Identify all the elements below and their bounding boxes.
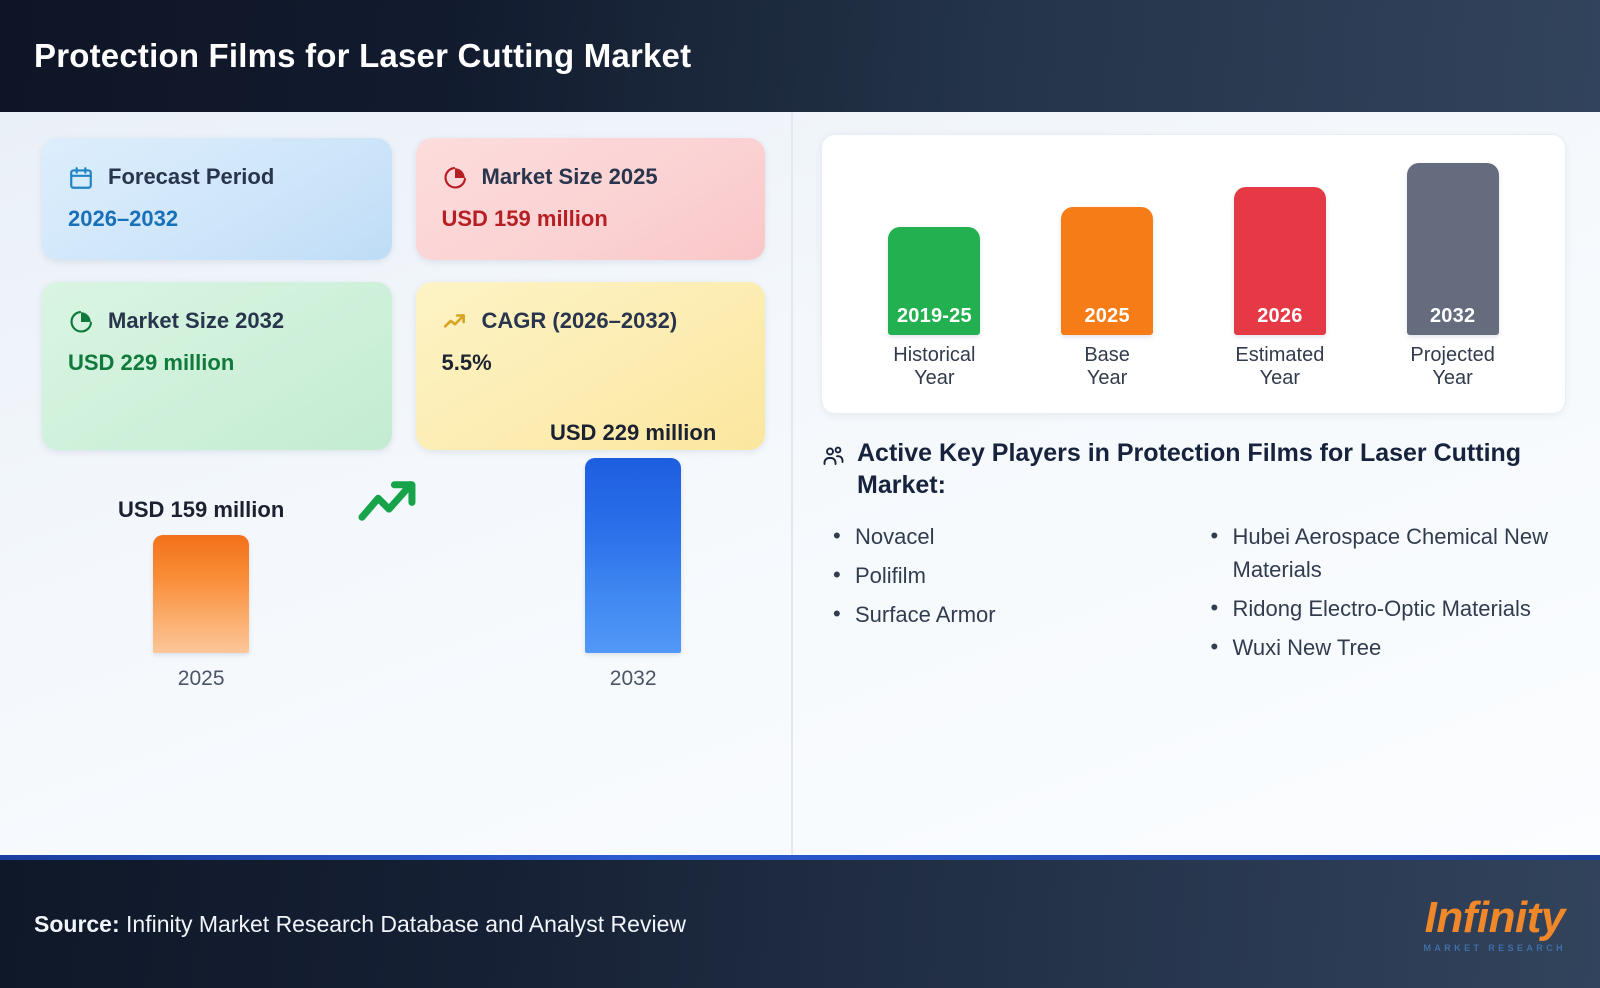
infographic-root: Protection Films for Laser Cutting Marke…	[0, 0, 1600, 988]
card-title: CAGR (2026–2032)	[482, 308, 678, 335]
footer-bar: Source: Infinity Market Research Databas…	[0, 860, 1600, 988]
list-item: Polifilm	[821, 559, 1189, 592]
source-text: Source: Infinity Market Research Databas…	[34, 911, 686, 938]
year-caption-line2: Year	[893, 367, 975, 391]
pie-chart-icon	[442, 165, 468, 196]
year-bar: 2032	[1407, 163, 1499, 335]
key-players-column-2: Hubei Aerospace Chemical New Materials R…	[1199, 520, 1567, 670]
year-column-projected: 2032 Projected Year	[1393, 163, 1513, 391]
metric-card-market-size-2032: Market Size 2032 USD 229 million	[42, 282, 392, 450]
pie-chart-icon	[68, 309, 94, 340]
trending-up-arrow-icon	[356, 474, 422, 533]
year-caption: Estimated Year	[1235, 344, 1324, 391]
growth-bar-rect	[585, 458, 681, 653]
metric-cards-grid: Forecast Period 2026–2032 Market Size 20…	[42, 138, 765, 450]
key-players-header: Active Key Players in Protection Films f…	[821, 438, 1566, 502]
year-bar: 2025	[1061, 207, 1153, 335]
left-pane: Forecast Period 2026–2032 Market Size 20…	[0, 112, 793, 855]
year-bar: 2019-25	[888, 227, 980, 335]
key-players-columns: Novacel Polifilm Surface Armor Hubei Aer…	[821, 520, 1566, 670]
card-value: 2026–2032	[68, 205, 370, 233]
card-head: Market Size 2025	[442, 164, 744, 196]
growth-bar-2025: USD 159 million 2025	[118, 497, 284, 691]
logo-wordmark: Infinity	[1425, 896, 1565, 940]
source-value: Infinity Market Research Database and An…	[120, 911, 686, 937]
key-players-list-2: Hubei Aerospace Chemical New Materials R…	[1199, 520, 1567, 664]
growth-bar-year-label: 2032	[610, 667, 657, 691]
study-years-chart: 2019-25 Historical Year 2025 Base Year	[821, 134, 1566, 414]
key-players-title: Active Key Players in Protection Films f…	[857, 438, 1566, 502]
key-players-list-1: Novacel Polifilm Surface Armor	[821, 520, 1189, 631]
card-value: USD 229 million	[68, 349, 370, 377]
growth-bar-year-label: 2025	[178, 667, 225, 691]
growth-bar-rect	[153, 535, 249, 653]
year-caption: Projected Year	[1410, 344, 1495, 391]
year-bar-label: 2025	[1084, 305, 1129, 328]
list-item: Novacel	[821, 520, 1189, 553]
year-caption-line1: Estimated	[1235, 344, 1324, 368]
users-icon	[821, 444, 845, 473]
year-bar-label: 2019-25	[897, 305, 972, 328]
body-region: Forecast Period 2026–2032 Market Size 20…	[0, 112, 1600, 855]
source-label: Source:	[34, 911, 120, 937]
year-bar: 2026	[1234, 187, 1326, 335]
card-value: 5.5%	[442, 349, 744, 377]
logo-tagline: MARKET RESEARCH	[1423, 943, 1566, 953]
year-caption: Base Year	[1084, 344, 1130, 391]
card-head: Forecast Period	[68, 164, 370, 196]
growth-bar-chart: USD 159 million 2025 USD 229 million 203…	[42, 468, 765, 855]
right-pane: 2019-25 Historical Year 2025 Base Year	[793, 112, 1600, 855]
card-head: CAGR (2026–2032)	[442, 308, 744, 340]
card-title: Market Size 2025	[482, 164, 658, 191]
metric-card-forecast-period: Forecast Period 2026–2032	[42, 138, 392, 260]
growth-bar-value-label: USD 229 million	[550, 420, 716, 446]
trending-up-icon	[442, 309, 468, 340]
growth-bar-value-label: USD 159 million	[118, 497, 284, 523]
year-caption: Historical Year	[893, 344, 975, 391]
header-bar: Protection Films for Laser Cutting Marke…	[0, 0, 1600, 112]
year-caption-line1: Projected	[1410, 344, 1495, 368]
card-title: Market Size 2032	[108, 308, 284, 335]
card-head: Market Size 2032	[68, 308, 370, 340]
card-value: USD 159 million	[442, 205, 744, 233]
key-players-section: Active Key Players in Protection Films f…	[821, 438, 1566, 670]
metric-card-market-size-2025: Market Size 2025 USD 159 million	[416, 138, 766, 260]
key-players-column-1: Novacel Polifilm Surface Armor	[821, 520, 1189, 670]
year-column-estimated: 2026 Estimated Year	[1220, 187, 1340, 391]
page-title: Protection Films for Laser Cutting Marke…	[34, 37, 691, 75]
brand-logo: Infinity MARKET RESEARCH	[1423, 896, 1566, 953]
list-item: Hubei Aerospace Chemical New Materials	[1199, 520, 1567, 586]
year-caption-line2: Year	[1235, 367, 1324, 391]
list-item: Wuxi New Tree	[1199, 631, 1567, 664]
list-item: Ridong Electro-Optic Materials	[1199, 592, 1567, 625]
year-bar-label: 2032	[1430, 305, 1475, 328]
year-bar-label: 2026	[1257, 305, 1302, 328]
calendar-icon	[68, 165, 94, 196]
year-caption-line2: Year	[1410, 367, 1495, 391]
card-title: Forecast Period	[108, 164, 274, 191]
growth-bar-2032: USD 229 million 2032	[550, 420, 716, 691]
list-item: Surface Armor	[821, 598, 1189, 631]
year-column-historical: 2019-25 Historical Year	[874, 227, 994, 391]
year-caption-line1: Historical	[893, 344, 975, 368]
year-column-base: 2025 Base Year	[1047, 207, 1167, 391]
year-caption-line2: Year	[1084, 367, 1130, 391]
year-caption-line1: Base	[1084, 344, 1130, 368]
